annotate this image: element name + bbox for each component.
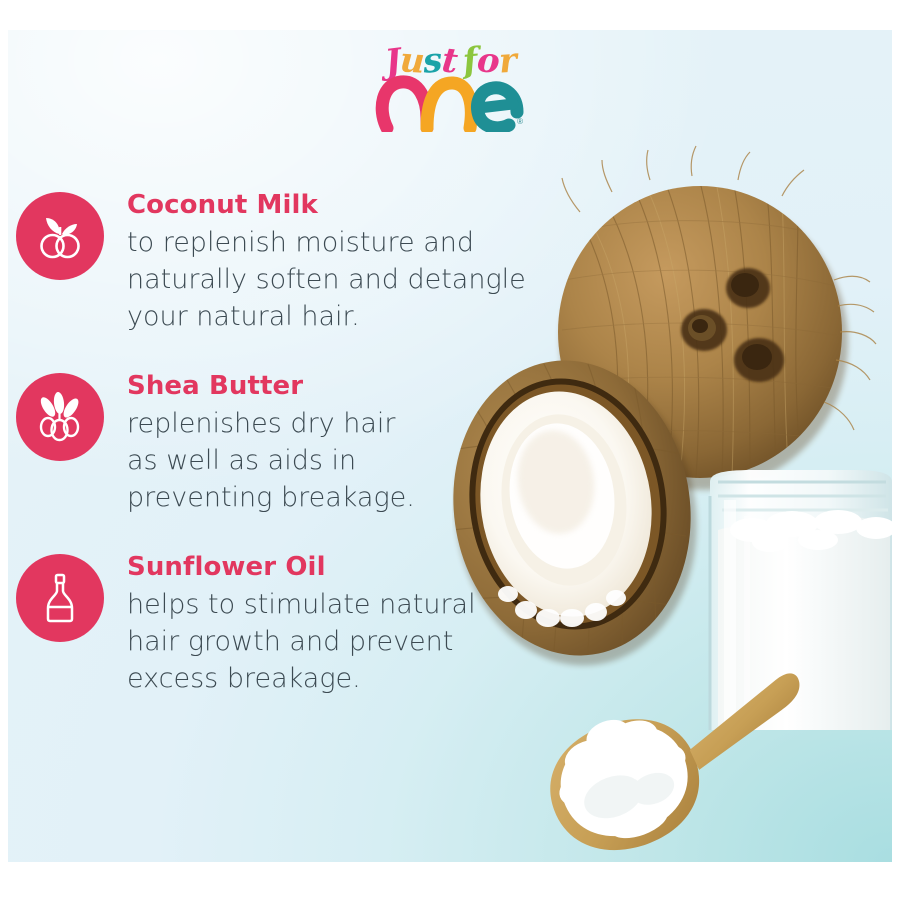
brand-logo: J u s t f o r ® bbox=[8, 36, 892, 144]
list-item: Sunflower Oil helps to stimulate natural… bbox=[16, 550, 696, 697]
content-panel: J u s t f o r ® bbox=[8, 30, 892, 862]
feature-body: helps to stimulate natural hair growth a… bbox=[127, 586, 476, 697]
feature-title: Sunflower Oil bbox=[127, 550, 476, 584]
feature-body: to replenish moisture and naturally soft… bbox=[127, 224, 526, 335]
feature-body: replenishes dry hair as well as aids in … bbox=[127, 405, 415, 516]
coconut-eyes bbox=[681, 268, 784, 382]
oil-bottle-icon bbox=[32, 570, 88, 626]
feature-body-line: preventing breakage. bbox=[127, 479, 415, 516]
feature-title: Coconut Milk bbox=[127, 188, 526, 222]
shea-nut-icon-badge bbox=[16, 373, 104, 461]
feature-text: Coconut Milk to replenish moisture and n… bbox=[127, 188, 526, 335]
coconut-icon-badge bbox=[16, 192, 104, 280]
oil-bottle-icon-badge bbox=[16, 554, 104, 642]
logo-wordmark-me: ® bbox=[375, 74, 525, 132]
shea-nut-icon bbox=[32, 389, 88, 445]
feature-body-line: naturally soften and detangle bbox=[127, 261, 526, 298]
list-item: Shea Butter replenishes dry hair as well… bbox=[16, 369, 696, 516]
product-benefits-graphic: J u s t f o r ® bbox=[0, 0, 900, 900]
feature-body-line: to replenish moisture and bbox=[127, 224, 526, 261]
list-item: Coconut Milk to replenish moisture and n… bbox=[16, 188, 696, 335]
feature-body-line: as well as aids in bbox=[127, 442, 415, 479]
coconut-icon bbox=[32, 208, 88, 264]
feature-text: Sunflower Oil helps to stimulate natural… bbox=[127, 550, 476, 697]
feature-body-line: replenishes dry hair bbox=[127, 405, 415, 442]
feature-text: Shea Butter replenishes dry hair as well… bbox=[127, 369, 415, 516]
logo-wordmark-top: J u s t f o r bbox=[385, 36, 516, 78]
feature-body-line: hair growth and prevent bbox=[127, 623, 476, 660]
feature-title: Shea Butter bbox=[127, 369, 415, 403]
ingredient-benefits-list: Coconut Milk to replenish moisture and n… bbox=[16, 188, 696, 697]
feature-body-line: your natural hair. bbox=[127, 298, 526, 335]
registered-trademark-icon: ® bbox=[517, 117, 523, 126]
feature-body-line: excess breakage. bbox=[127, 660, 476, 697]
feature-body-line: helps to stimulate natural bbox=[127, 586, 476, 623]
coconut-oil-jar bbox=[710, 470, 892, 730]
